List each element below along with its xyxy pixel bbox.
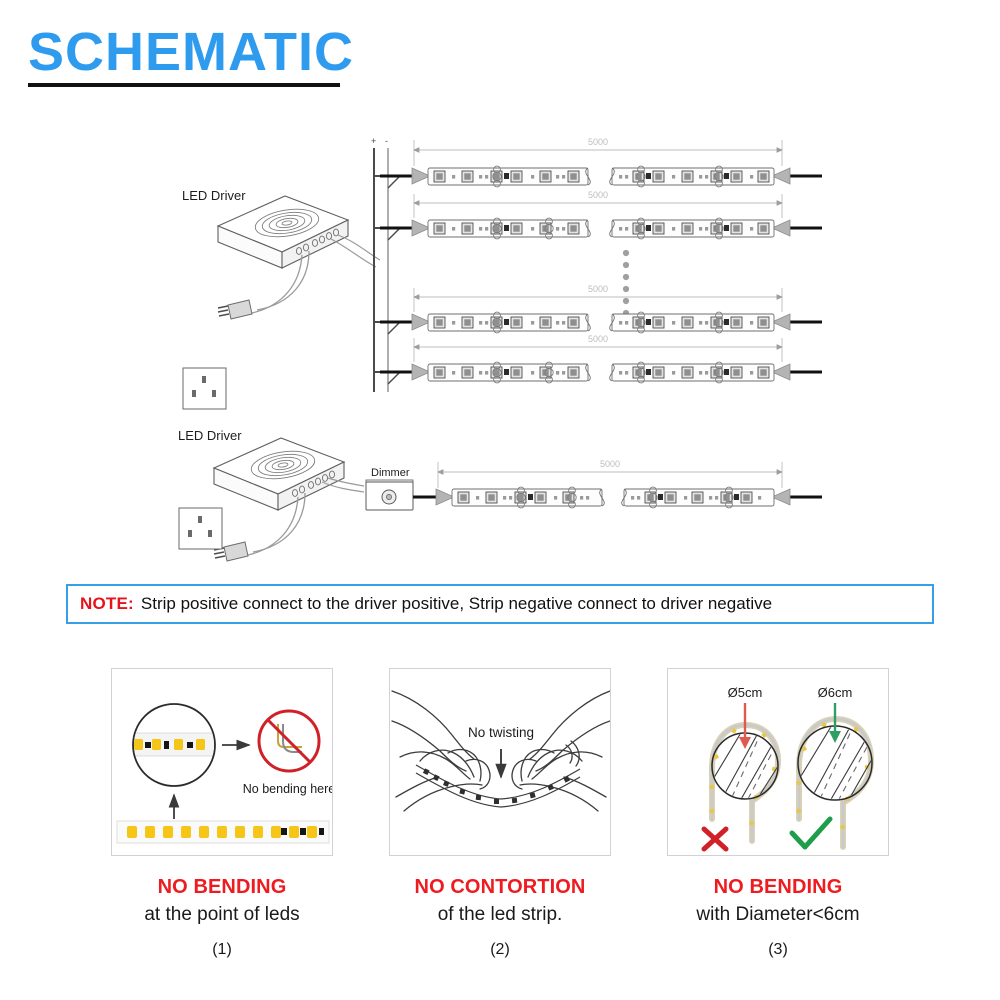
led-driver-top: LED Driver	[182, 188, 380, 409]
panel-3-figure: Ø5cm	[667, 668, 889, 856]
panel-3-caption-number: (3)	[628, 941, 928, 959]
warning-panels: No bending here	[0, 668, 1000, 978]
note-label: NOTE:	[80, 594, 134, 614]
panel-3-label-bad: Ø5cm	[728, 685, 763, 700]
wall-socket-top	[183, 368, 226, 409]
strip-row-4: 5000	[374, 334, 822, 384]
panel-2-caption-number: (2)	[350, 941, 650, 959]
panel-1-caption-main: NO BENDING	[72, 876, 372, 899]
led-driver-bottom: LED Driver	[178, 428, 364, 561]
driver-body-top	[218, 196, 348, 268]
twisted-strip	[416, 765, 580, 807]
led-driver-bottom-label: LED Driver	[178, 428, 242, 443]
page-title-block: SCHEMATIC	[28, 24, 354, 87]
panel-1-inner-text: No bending here	[243, 782, 333, 796]
schematic-svg: LED Driver	[0, 110, 1000, 570]
strip-2-length-label: 5000	[588, 190, 608, 200]
page-title: SCHEMATIC	[28, 24, 354, 81]
bus-minus-label: -	[385, 136, 388, 146]
panel-no-bending-diameter: Ø5cm	[628, 668, 928, 959]
strip-row-3: 5000	[374, 284, 822, 334]
panel-2-caption-main: NO CONTORTION	[350, 876, 650, 899]
panel-1-figure: No bending here	[111, 668, 333, 856]
bus-bars: + -	[371, 136, 388, 392]
loop-bad-5cm: Ø5cm	[704, 685, 780, 849]
panel-no-bending-leds: No bending here	[72, 668, 372, 959]
panel-2-inner-text: No twisting	[468, 725, 534, 740]
note-banner: NOTE: Strip positive connect to the driv…	[66, 584, 934, 624]
cross-icon	[704, 829, 726, 849]
dimmer-module: Dimmer	[366, 467, 436, 510]
panel-3-caption-main: NO BENDING	[628, 876, 928, 899]
loop-good-6cm: Ø6cm	[792, 685, 872, 847]
panel-2-caption-sub: of the led strip.	[350, 904, 650, 926]
note-text: Strip positive connect to the driver pos…	[141, 594, 772, 614]
strip-row-2: 5000	[374, 190, 822, 240]
wall-socket-bottom	[179, 508, 222, 549]
strip-3-length-label: 5000	[588, 284, 608, 294]
panel-3-label-good: Ø6cm	[818, 685, 853, 700]
panel-3-caption-sub: with Diameter<6cm	[628, 904, 928, 926]
driver-body-bottom	[214, 438, 344, 510]
schematic-page: SCHEMATIC	[0, 0, 1000, 1000]
panel-1-strip-photo	[117, 821, 329, 843]
panel-2-figure: No twisting	[389, 668, 611, 856]
dimmer-label: Dimmer	[371, 467, 410, 479]
title-underline	[28, 83, 340, 87]
strip-row-dimmer: 5000	[436, 459, 822, 508]
panel-1-caption-sub: at the point of leds	[72, 904, 372, 926]
panel-no-contortion: No twisting NO CONTORTION of the led str…	[350, 668, 650, 959]
strip-1-length-label: 5000	[588, 137, 608, 147]
strip-4-length-label: 5000	[588, 334, 608, 344]
strip-row-1: 5000	[374, 137, 822, 188]
bus-plus-label: +	[371, 136, 376, 146]
panel-1-caption-number: (1)	[72, 941, 372, 959]
led-driver-top-label: LED Driver	[182, 188, 246, 203]
check-icon	[792, 819, 830, 847]
schematic-diagram: LED Driver	[0, 110, 1000, 570]
no-bending-prohibition-icon	[259, 711, 319, 771]
continuation-dots	[623, 250, 629, 316]
strip-dimmer-length-label: 5000	[600, 459, 620, 469]
